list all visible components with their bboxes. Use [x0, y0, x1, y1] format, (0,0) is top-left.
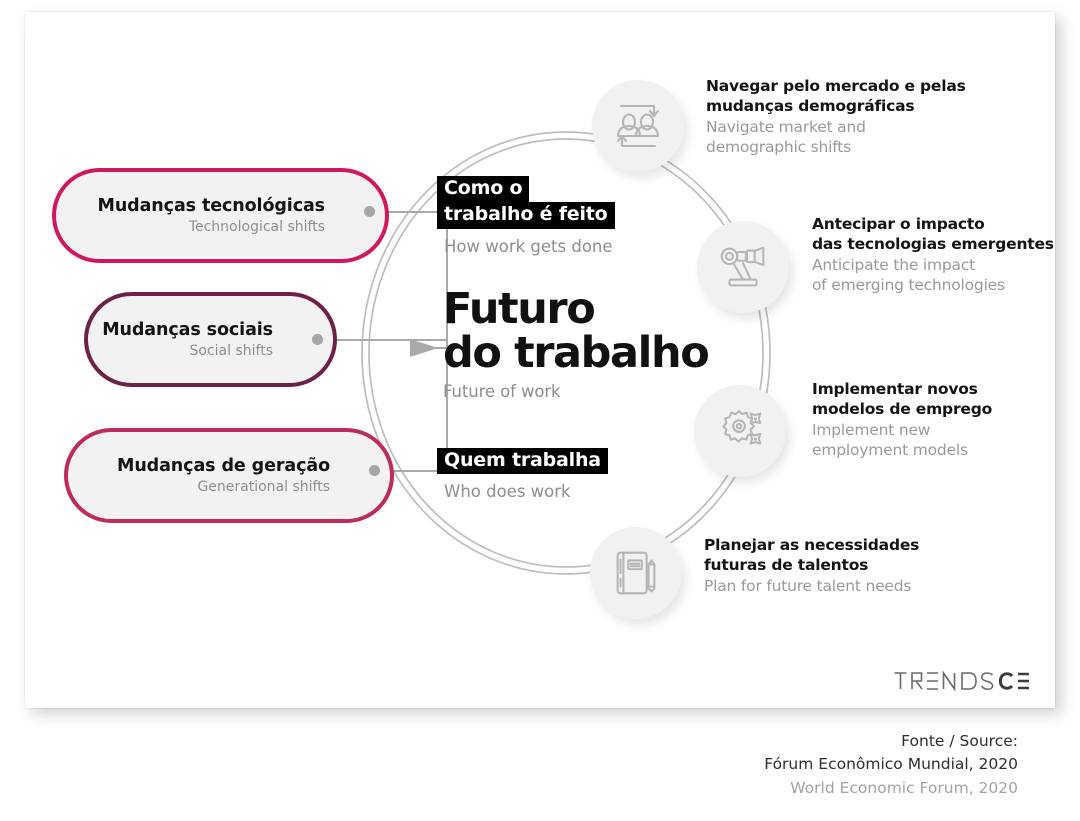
- driver-title: Mudanças tecnológicas: [98, 196, 326, 216]
- outcome-en-line-1: Navigate market and: [706, 117, 966, 137]
- outcome-en-line-1: Plan for future talent needs: [704, 576, 919, 596]
- outcome-pt-line-1: Navegar pelo mercado e pelas: [706, 76, 966, 96]
- driver-subtitle: Technological shifts: [189, 219, 325, 236]
- outcome-icon-wrap: [697, 221, 789, 313]
- driver-pill-technological[interactable]: Mudanças tecnológicas Technological shif…: [52, 168, 389, 263]
- outcome-icon-wrap: [590, 527, 682, 619]
- driver-dot-technological: [364, 206, 375, 217]
- driver-title: Mudanças de geração: [117, 456, 330, 476]
- notebook-pencil-icon: [607, 544, 665, 602]
- outcome-text: Implementar novos modelos de emprego Imp…: [812, 379, 992, 461]
- outcome-en-line-2: demographic shifts: [706, 137, 966, 157]
- outcome-en-line-2: of emerging technologies: [812, 275, 1054, 295]
- outcome-text: Antecipar o impacto das tecnologias emer…: [812, 214, 1054, 296]
- outcome-en-line-1: Implement new: [812, 420, 992, 440]
- outcome-pt-line-2: futuras de talentos: [704, 555, 919, 575]
- driver-subtitle: Generational shifts: [197, 479, 330, 496]
- tag-subtitle: How work gets done: [444, 237, 615, 257]
- driver-dot-generational: [369, 465, 380, 476]
- tag-how-work-gets-done: Como o trabalho é feito How work gets do…: [437, 176, 615, 256]
- people-exchange-icon: [608, 96, 668, 156]
- outcome-pt-line-1: Planejar as necessidades: [704, 535, 919, 555]
- outcome-pt-line-2: modelos de emprego: [812, 399, 992, 419]
- tag-line-1: Quem trabalha: [437, 448, 608, 474]
- tag-subtitle: Who does work: [444, 482, 608, 502]
- infographic-root: Mudanças tecnológicas Technological shif…: [0, 0, 1080, 821]
- source-en: World Economic Forum, 2020: [764, 777, 1018, 800]
- tag-line-2: trabalho é feito: [437, 202, 615, 228]
- brand-logo: [893, 668, 1033, 694]
- outcome-pt-line-1: Implementar novos: [812, 379, 992, 399]
- hero-line-2: do trabalho: [443, 332, 773, 376]
- driver-subtitle: Social shifts: [190, 343, 273, 360]
- outcome-icon-wrap: [592, 80, 684, 172]
- outcome-icon-wrap: [694, 385, 786, 477]
- source-label: Fonte / Source:: [764, 730, 1018, 753]
- source-block: Fonte / Source: Fórum Econômico Mundial,…: [764, 730, 1018, 800]
- driver-title: Mudanças sociais: [102, 320, 273, 340]
- driver-dot-social: [312, 334, 323, 345]
- outcome-pt-line-2: das tecnologias emergentes: [812, 234, 1054, 254]
- driver-pill-social[interactable]: Mudanças sociais Social shifts: [84, 292, 337, 387]
- tag-who-does-work: Quem trabalha Who does work: [437, 448, 608, 502]
- trendsce-logo-icon: [893, 668, 1033, 694]
- outcome-text: Navegar pelo mercado e pelas mudanças de…: [706, 76, 966, 158]
- driver-pill-generational[interactable]: Mudanças de geração Generational shifts: [64, 428, 394, 523]
- robot-arm-icon: [714, 238, 772, 296]
- outcome-pt-line-1: Antecipar o impacto: [812, 214, 1054, 234]
- gears-puzzle-icon: [711, 402, 769, 460]
- tag-line-1: Como o: [437, 176, 529, 202]
- outcome-en-line-2: employment models: [812, 440, 992, 460]
- outcome-text: Planejar as necessidades futuras de tale…: [704, 535, 919, 596]
- outcome-en-line-1: Anticipate the impact: [812, 255, 1054, 275]
- source-pt: Fórum Econômico Mundial, 2020: [764, 753, 1018, 776]
- outcome-pt-line-2: mudanças demográficas: [706, 96, 966, 116]
